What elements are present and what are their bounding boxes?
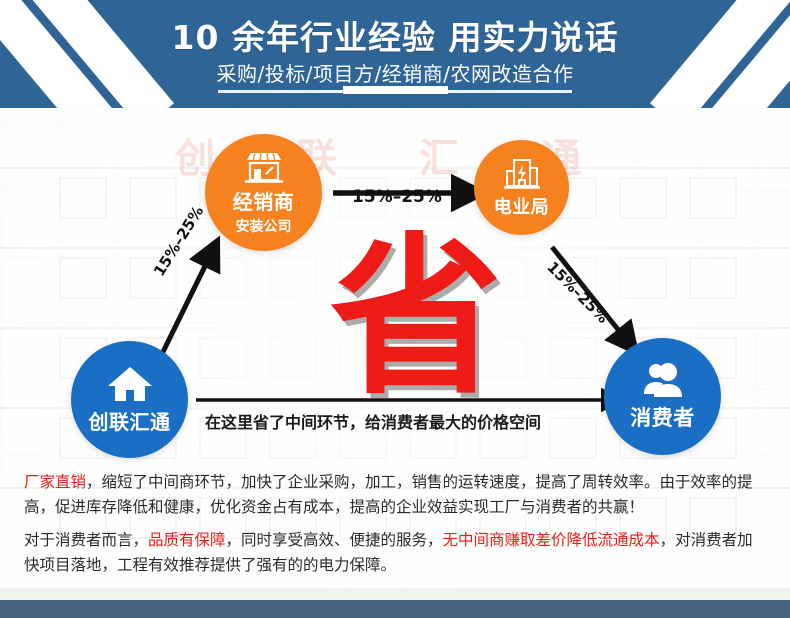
arrow-label-dealer-to-bureau: 15%–25%: [352, 187, 442, 207]
node-consumer[interactable]: 消费者: [604, 338, 721, 455]
people-icon: [640, 361, 686, 399]
paragraph-one-highlight: 厂家直销: [24, 473, 86, 491]
brand-watermark: 创 联 汇 通: [0, 126, 790, 184]
paragraph-one-rest: ，缩短了中间商环节，加快了企业采购，加工，销售的运转速度，提高了周转效率。由于效…: [24, 473, 753, 516]
paragraph-two-highlight-nomiddleman: 无中间商赚取差价降低流通成本: [443, 531, 660, 549]
node-dealer-sublabel: 安装公司: [236, 216, 292, 236]
paragraph-two-highlight-quality: 品质有保障: [148, 531, 226, 549]
node-dealer[interactable]: 经销商 安装公司: [205, 134, 322, 251]
header-banner: 10 余年行业经验 用实力说话 采购/投标/项目方/经销商/农网改造合作: [0, 0, 790, 108]
power-building-icon: [503, 157, 541, 191]
infographic-page: 10 余年行业经验 用实力说话 采购/投标/项目方/经销商/农网改造合作 创 联…: [0, 0, 790, 618]
node-company-label: 创联汇通: [89, 406, 171, 435]
house-icon: [107, 365, 153, 403]
arrow-label-company-to-consumer: 在这里省了中间环节，给消费者最大的价格空间: [205, 409, 541, 433]
header-subtitle: 采购/投标/项目方/经销商/农网改造合作: [0, 58, 790, 87]
node-company[interactable]: 创联汇通: [71, 341, 188, 458]
node-bureau-label: 电业局: [494, 193, 550, 219]
center-saving-character: 省: [330, 232, 502, 404]
paragraph-one: 厂家直销，缩短了中间商环节，加快了企业采购，加工，销售的运转速度，提高了周转效率…: [24, 470, 768, 520]
paragraph-two-mid: ，同时享受高效、便捷的服务，: [226, 531, 443, 549]
shop-icon: [243, 150, 285, 184]
header-title: 10 余年行业经验 用实力说话: [0, 11, 790, 59]
paragraph-two: 对于消费者而言，品质有保障，同时享受高效、便捷的服务，无中间商赚取差价降低流通成…: [24, 528, 768, 578]
footer-bar: [0, 600, 790, 618]
header-rule-center: [343, 86, 448, 94]
node-dealer-label: 经销商: [233, 186, 295, 215]
paragraph-two-lead: 对于消费者而言，: [24, 531, 148, 549]
node-consumer-label: 消费者: [630, 402, 695, 432]
